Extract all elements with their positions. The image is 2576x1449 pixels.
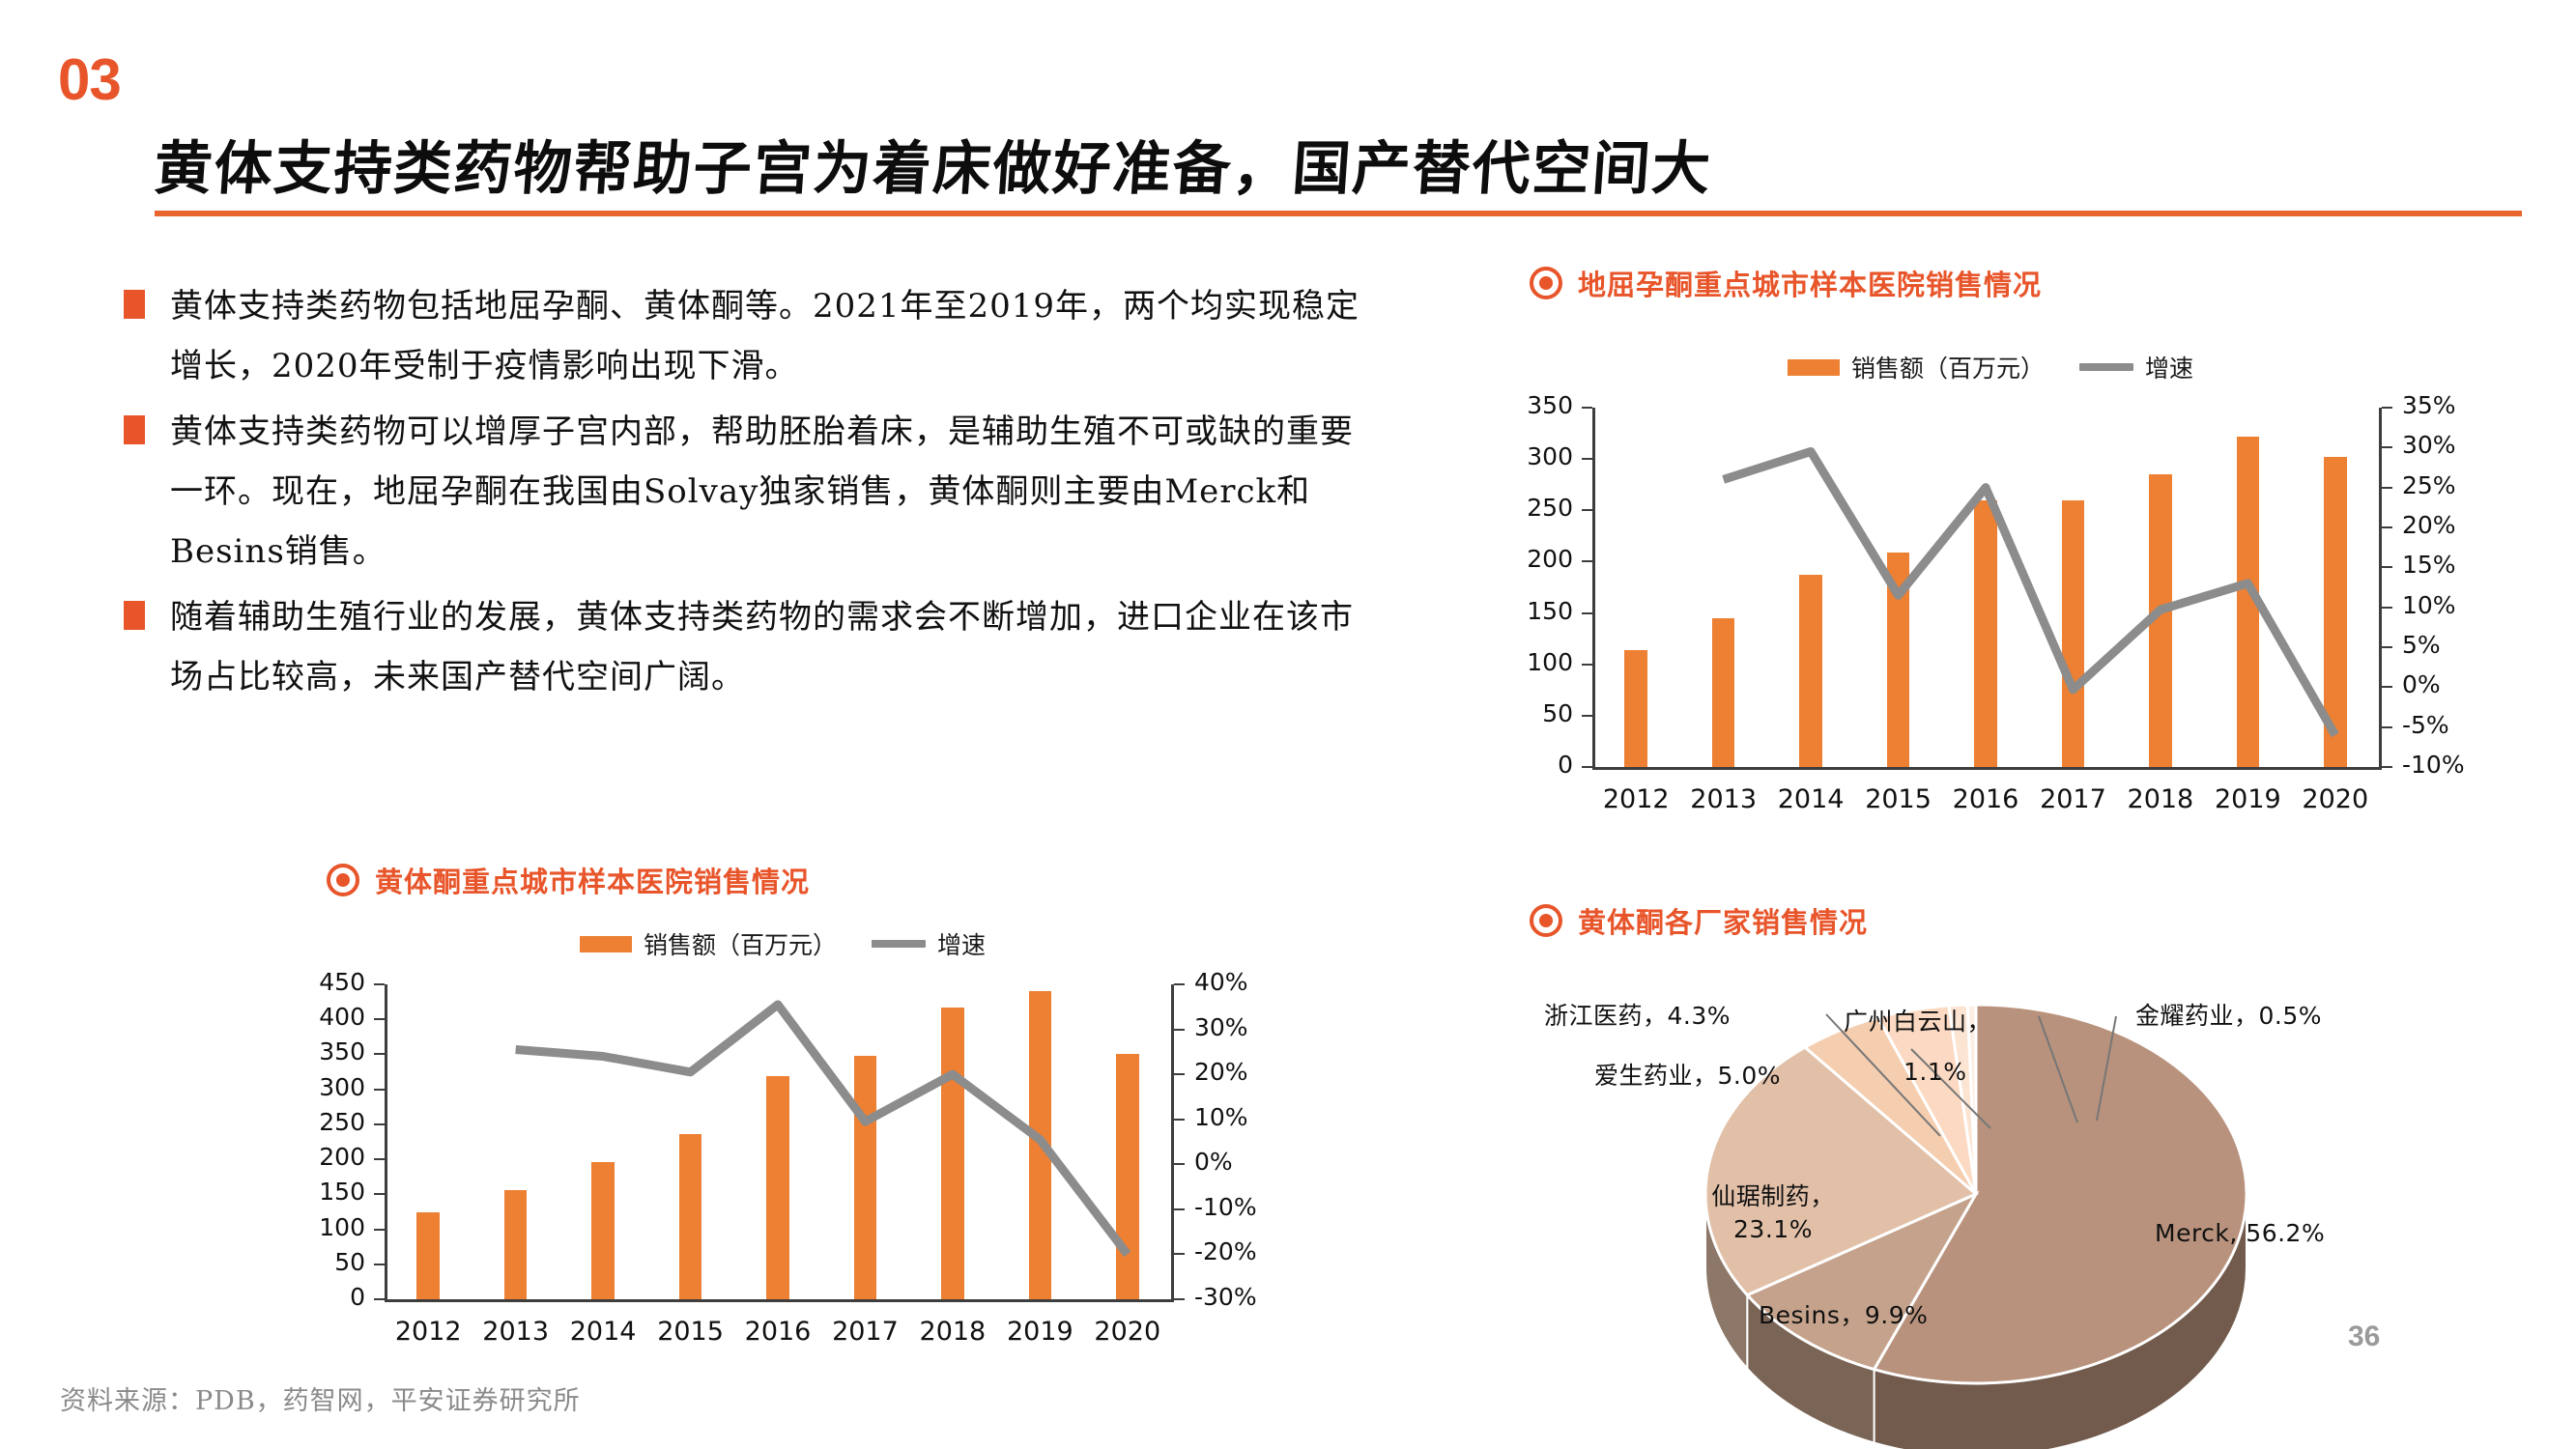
- bullet-list: 黄体支持类药物包括地屈孕酮、黄体酮等。2021年至2019年，两个均实现稳定增长…: [124, 276, 1380, 713]
- chart-legend: 销售额（百万元） 增速: [493, 926, 1073, 961]
- pie-label-merck: Merck, 56.2%: [2155, 1219, 2325, 1247]
- chart-progesterone: 销售额（百万元） 增速 050100150200250300350400450-…: [271, 923, 1295, 1367]
- square-bullet-icon: [124, 415, 145, 444]
- list-item: 随着辅助生殖行业的发展，黄体支持类药物的需求会不断增加，进口企业在该市场占比较高…: [124, 587, 1380, 707]
- list-item: 黄体支持类药物包括地屈孕酮、黄体酮等。2021年至2019年，两个均实现稳定增长…: [124, 276, 1380, 396]
- bullet-text: 随着辅助生殖行业的发展，黄体支持类药物的需求会不断增加，进口企业在该市场占比较高…: [170, 587, 1368, 707]
- pie-label-baiyunshan: 广州白云山，1.1%: [1844, 997, 1991, 1097]
- pie-label-aisheng: 爱生药业，5.0%: [1594, 1057, 1781, 1092]
- chart-legend: 销售额（百万元） 增速: [1701, 350, 2280, 384]
- legend-swatch-line-icon: [2079, 363, 2133, 371]
- title-underline-rule: [155, 211, 2522, 216]
- pie-label-xianju: 仙琚制药，23.1%: [1686, 1180, 1860, 1246]
- section-number: 03: [58, 46, 121, 113]
- legend-label-line: 增速: [2145, 350, 2193, 384]
- chart-title-progesterone: 黄体酮重点城市样本医院销售情况: [327, 860, 810, 900]
- page-title: 黄体支持类药物帮助子宫为着床做好准备，国产替代空间大: [152, 122, 1984, 206]
- legend-swatch-bar-icon: [580, 936, 632, 952]
- legend-item-bar: 销售额（百万元）: [580, 926, 837, 961]
- pie-label-zhejiang: 浙江医药，4.3%: [1544, 997, 1731, 1032]
- legend-swatch-bar-icon: [1788, 359, 1840, 376]
- pie-label-jinyao: 金耀药业，0.5%: [2135, 997, 2322, 1032]
- bullet-text: 黄体支持类药物包括地屈孕酮、黄体酮等。2021年至2019年，两个均实现稳定增长…: [170, 276, 1368, 396]
- legend-label-bar: 销售额（百万元）: [644, 926, 837, 961]
- source-note: 资料来源：PDB，药智网，平安证券研究所: [60, 1379, 581, 1417]
- legend-item-bar: 销售额（百万元）: [1788, 350, 2045, 384]
- page-number: 36: [2348, 1321, 2380, 1353]
- bullseye-icon: [1530, 267, 1562, 299]
- legend-swatch-line-icon: [872, 940, 926, 948]
- square-bullet-icon: [124, 290, 145, 319]
- legend-label-bar: 销售额（百万元）: [1851, 350, 2045, 384]
- legend-item-line: 增速: [872, 926, 986, 961]
- chart-didrogesterone: 销售额（百万元） 增速 050100150200250300350-10%-5%…: [1478, 340, 2503, 833]
- legend-item-line: 增速: [2079, 350, 2193, 384]
- line-series: [1478, 396, 2503, 831]
- legend-label-line: 增速: [937, 926, 986, 961]
- bullseye-icon: [1530, 904, 1562, 937]
- plot-area: 050100150200250300350400450-30%-20%-10%0…: [271, 973, 1295, 1359]
- pie-label-besins: Besins，9.9%: [1759, 1296, 1928, 1331]
- bullet-text: 黄体支持类药物可以增厚子宫内部，帮助胚胎着床，是辅助生殖不可或缺的重要一环。现在…: [170, 402, 1368, 582]
- chart-title-manufacturer: 黄体酮各厂家销售情况: [1530, 900, 1868, 941]
- square-bullet-icon: [124, 601, 145, 630]
- chart-manufacturer-share: 浙江医药，4.3%广州白云山，1.1%金耀药业，0.5%爱生药业，5.0%仙琚制…: [1536, 956, 2522, 1372]
- plot-area: 050100150200250300350-10%-5%0%5%10%15%20…: [1478, 396, 2503, 831]
- list-item: 黄体支持类药物可以增厚子宫内部，帮助胚胎着床，是辅助生殖不可或缺的重要一环。现在…: [124, 402, 1380, 582]
- chart-title-didrogesterone: 地屈孕酮重点城市样本医院销售情况: [1530, 263, 2042, 303]
- bullseye-icon: [327, 864, 359, 896]
- line-series: [271, 973, 1295, 1359]
